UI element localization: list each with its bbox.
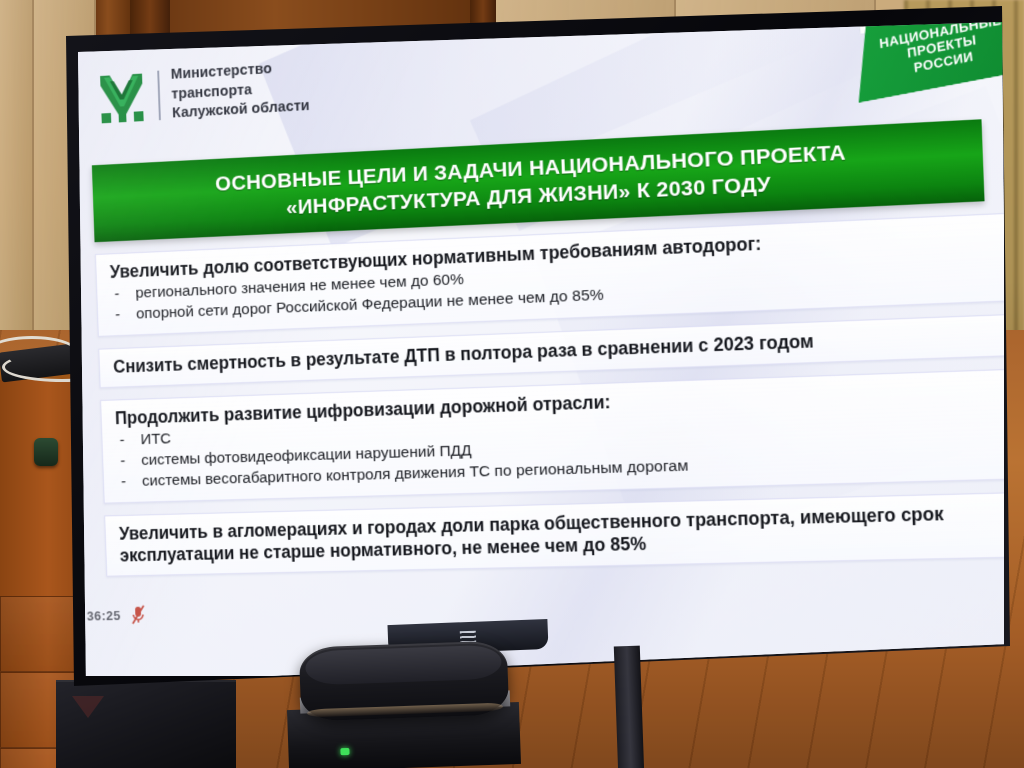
tv-screen[interactable]: Министерство транспорта Калужской област… [66,16,1004,676]
speakerphone-ring [307,703,503,718]
conference-speakerphone[interactable] [299,640,509,721]
ministry-logo-text: Министерство транспорта Калужской област… [170,58,310,124]
slide-content: Увеличить долю соответствующих нормативн… [95,213,1004,588]
microphone-muted-icon[interactable] [130,605,146,625]
cabinet-handle[interactable] [34,438,58,466]
presentation-slide: Министерство транспорта Калужской област… [66,16,1004,676]
conference-room-scene: Министерство транспорта Калужской област… [0,0,1024,768]
goal-heading: Увеличить в агломерациях и городах доли … [119,501,1003,567]
videoconference-overlay: 36:25 [87,605,146,626]
floor-speaker [56,680,236,768]
tv-stand-neck [614,646,644,768]
goal-block: Увеличить в агломерациях и городах доли … [104,492,1004,577]
television: Министерство транспорта Калужской област… [58,6,1010,686]
goal-heading: Снизить смертность в результате ДТП в по… [113,323,996,378]
logo-divider [157,71,161,121]
ministry-logo: Министерство транспорта Калужской област… [96,58,310,128]
power-led-indicator [340,748,349,755]
call-timer: 36:25 [87,608,121,623]
badge-green-block: НАЦИОНАЛЬНЫЕ ПРОЕКТЫ РОССИИ [850,16,1004,103]
ministry-m-emblem-icon [96,68,148,128]
national-projects-badge: ИНФРАСТРУКТУРА НАЦИОНАЛЬНЫЕ ПРОЕКТЫ РОСС… [847,16,1004,104]
goal-block: Продолжить развитие цифровизации дорожно… [100,369,1004,504]
